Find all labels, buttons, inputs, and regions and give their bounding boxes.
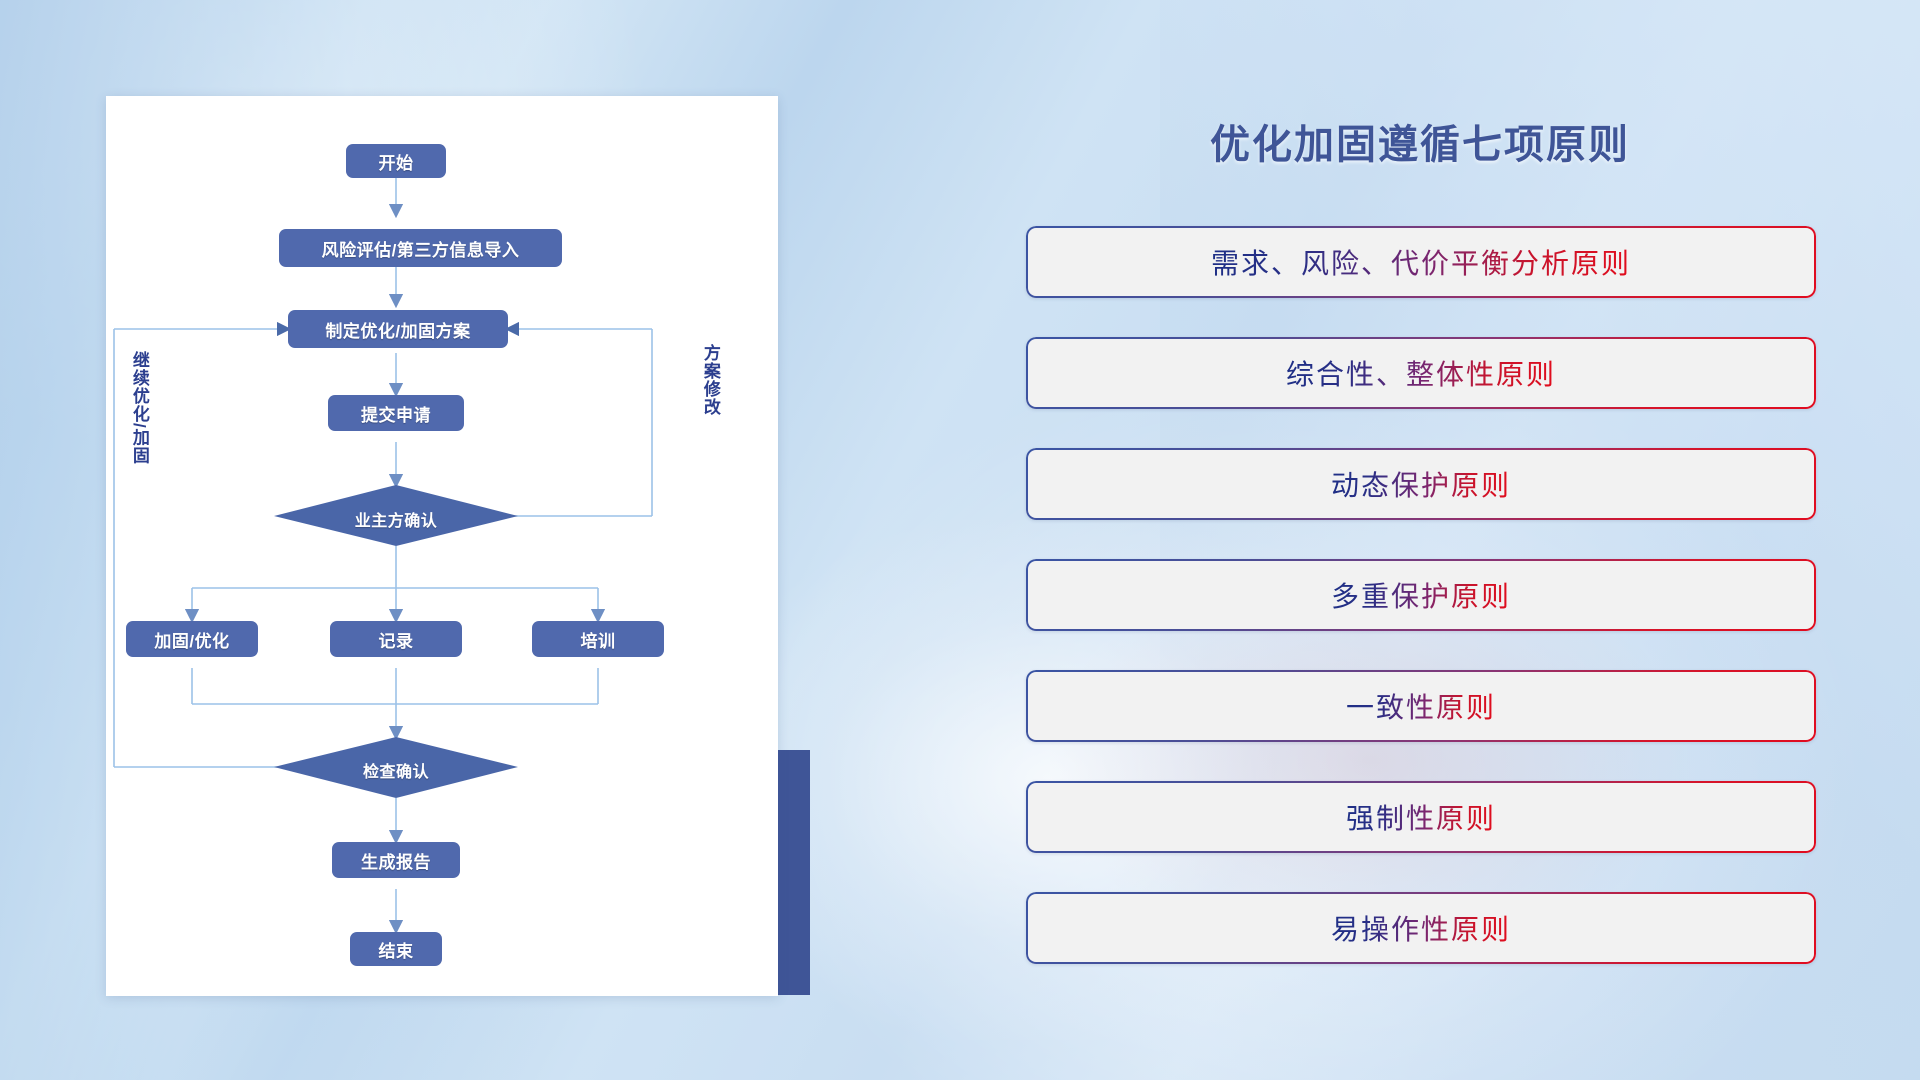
flow-node-make-plan[interactable]: 制定优化/加固方案	[288, 310, 508, 348]
flow-node-record[interactable]: 记录	[330, 621, 462, 657]
principle-item[interactable]: 一致性原则	[1026, 670, 1816, 742]
flow-node-label: 记录	[379, 627, 414, 652]
flow-node-label: 培训	[581, 627, 616, 652]
decision-owner-confirm	[274, 485, 518, 546]
flow-node-training[interactable]: 培训	[532, 621, 664, 657]
decision-inspection-confirm	[274, 737, 518, 798]
flow-node-label: 生成报告	[361, 848, 431, 873]
principle-item[interactable]: 易操作性原则	[1026, 892, 1816, 964]
flow-node-label: 提交申请	[361, 401, 431, 426]
principle-label: 易操作性原则	[1331, 908, 1511, 948]
principle-label: 动态保护原则	[1331, 464, 1511, 504]
principle-label: 一致性原则	[1346, 686, 1496, 726]
principle-label: 强制性原则	[1346, 797, 1496, 837]
principles-title: 优化加固遵循七项原则	[1010, 112, 1830, 170]
flow-node-label: 制定优化/加固方案	[325, 317, 470, 342]
flow-node-submit-application[interactable]: 提交申请	[328, 395, 464, 431]
flow-node-end[interactable]: 结束	[350, 932, 442, 966]
flow-edge-label-plan-revision: 方案修改	[701, 344, 719, 416]
principles-panel: 优化加固遵循七项原则 需求、风险、代价平衡分析原则 综合性、整体性原则 动态保护…	[1010, 96, 1830, 996]
flow-node-risk-assessment[interactable]: 风险评估/第三方信息导入	[279, 229, 562, 267]
flow-node-start[interactable]: 开始	[346, 144, 446, 178]
flow-edge-label-continue-optimize: 继续优化/加固	[130, 351, 148, 465]
flowchart: 开始 风险评估/第三方信息导入 制定优化/加固方案 提交申请 业主方确认 加固/…	[106, 96, 778, 996]
flow-node-label: 风险评估/第三方信息导入	[322, 236, 520, 261]
principle-label: 综合性、整体性原则	[1286, 353, 1556, 393]
principle-item[interactable]: 多重保护原则	[1026, 559, 1816, 631]
flow-node-label: 结束	[379, 937, 414, 962]
principle-item[interactable]: 需求、风险、代价平衡分析原则	[1026, 226, 1816, 298]
principle-label: 多重保护原则	[1331, 575, 1511, 615]
principle-label: 需求、风险、代价平衡分析原则	[1211, 242, 1631, 282]
flow-node-generate-report[interactable]: 生成报告	[332, 842, 460, 878]
flow-node-label: 开始	[379, 149, 414, 174]
principles-list: 需求、风险、代价平衡分析原则 综合性、整体性原则 动态保护原则 多重保护原则 一…	[1026, 226, 1816, 1003]
principle-item[interactable]: 动态保护原则	[1026, 448, 1816, 520]
flowchart-card: 开始 风险评估/第三方信息导入 制定优化/加固方案 提交申请 业主方确认 加固/…	[106, 96, 778, 996]
flow-node-label: 加固/优化	[154, 627, 229, 652]
principle-item[interactable]: 综合性、整体性原则	[1026, 337, 1816, 409]
flow-node-reinforce-optimize[interactable]: 加固/优化	[126, 621, 258, 657]
principle-item[interactable]: 强制性原则	[1026, 781, 1816, 853]
